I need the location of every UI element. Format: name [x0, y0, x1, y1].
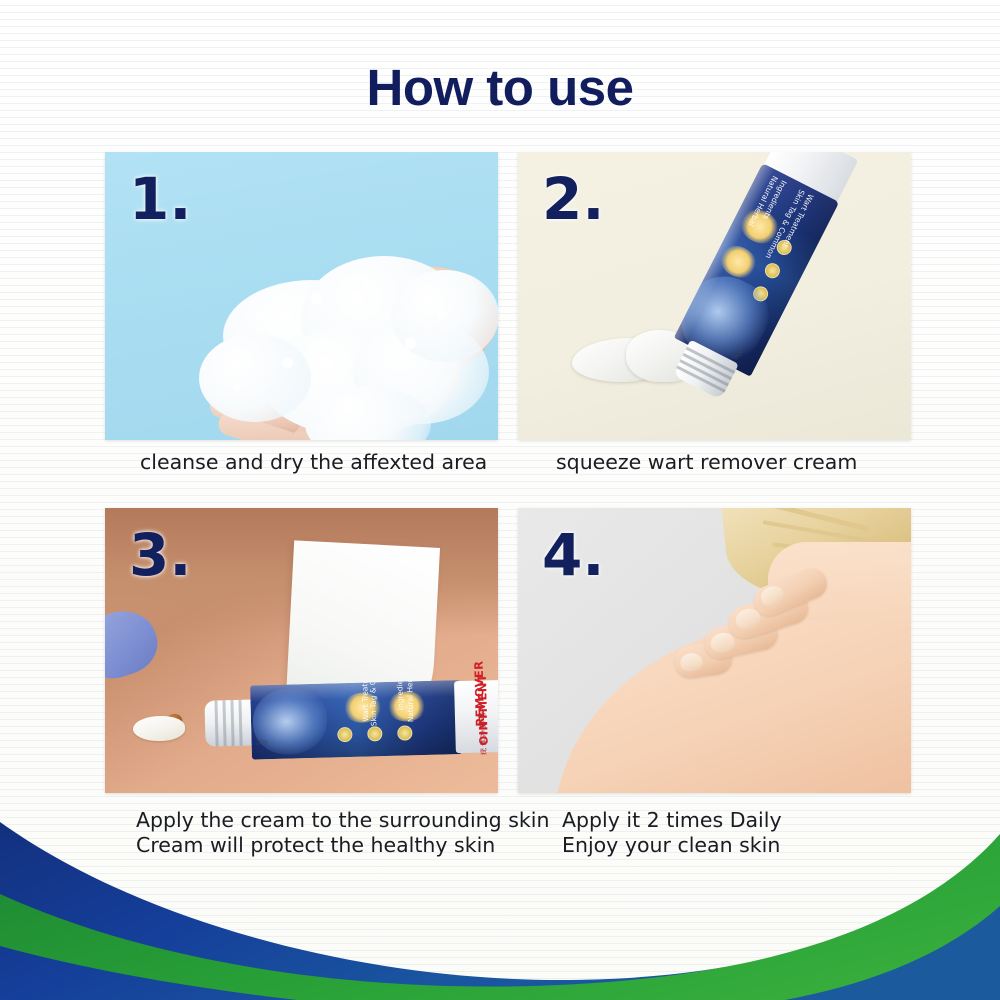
- step-panel-3: Natural Herbal Ingredients Skin Tag & Co…: [105, 508, 498, 793]
- step-1-number: 1.: [129, 170, 191, 228]
- step-panel-2: REMOVER OINTMENT 疣 体 净 药 膏 Natural Herba…: [518, 152, 911, 440]
- ointment-tube: Natural Herbal Ingredients Skin Tag & Co…: [190, 679, 498, 761]
- foam-bubble: [405, 338, 416, 349]
- step-2-number: 2.: [542, 170, 604, 228]
- tube-badge-icon: [337, 727, 352, 742]
- bottom-wave-banner: [0, 810, 1000, 1000]
- step-1-caption: cleanse and dry the affexted area: [140, 450, 487, 475]
- step-4-number: 4.: [542, 526, 604, 584]
- page-title: How to use: [0, 62, 1000, 113]
- tube-body: Natural Herbal Ingredients Skin Tag & Co…: [250, 680, 462, 759]
- tube-badge-icon: [762, 261, 782, 281]
- tube-badge-icon: [397, 725, 412, 740]
- tube-badge-icon: [367, 726, 382, 741]
- foam-bubble: [283, 358, 293, 368]
- step-3-number: 3.: [129, 526, 191, 584]
- foam-bubble: [233, 384, 240, 391]
- step-2-caption: squeeze wart remover cream: [556, 450, 857, 475]
- foam-bubble: [343, 398, 352, 407]
- step-panel-1: 1.: [105, 152, 498, 440]
- tube-net-weight: 30g: [255, 739, 267, 746]
- tube-claim-4: Wart Treatment: [360, 680, 371, 726]
- step-panel-4: 4.: [518, 508, 911, 793]
- tube-claim-1: Natural Herbal: [405, 680, 416, 724]
- foam-bubble: [363, 278, 371, 286]
- infographic-stage: How to use 1.: [0, 0, 1000, 1000]
- foam-bubble: [437, 310, 445, 318]
- tube-claim-2: Ingredients: [395, 680, 406, 724]
- cream-dab: [133, 716, 185, 741]
- foam-bubble: [311, 292, 323, 304]
- soap-foam: [199, 334, 311, 422]
- foam-bubble: [255, 312, 264, 321]
- tube-chinese-label: 疣 体 净 药 膏: [478, 705, 489, 761]
- tube-cap: REMOVER OINTMENT 疣 体 净 药 膏: [454, 680, 498, 753]
